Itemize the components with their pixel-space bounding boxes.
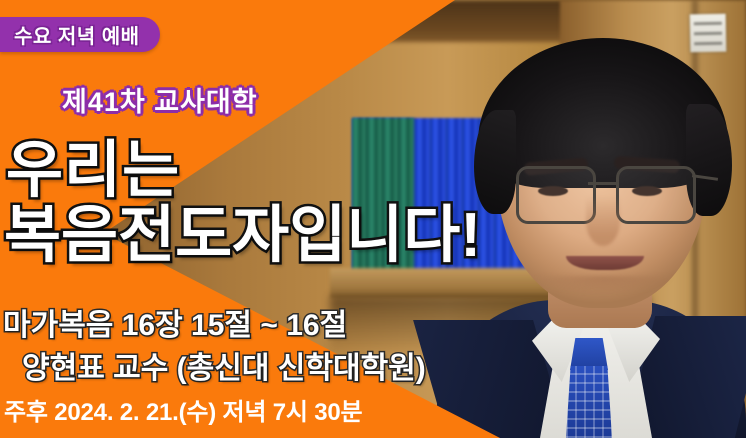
eyeglasses-lens-right	[616, 166, 696, 224]
sermon-title-card: 수요 저녁 예배 제41차 교사대학 우리는 복음전도자입니다! 마가복음 16…	[0, 0, 746, 438]
chin-shadow	[534, 276, 674, 306]
series-kicker: 제41차 교사대학	[62, 80, 258, 119]
necktie-body	[566, 366, 612, 438]
service-type-badge: 수요 저녁 예배	[0, 17, 160, 52]
headline-line-1: 우리는	[6, 140, 180, 202]
headline-line-2: 복음전도자입니다!	[4, 205, 481, 267]
service-type-label: 수요 저녁 예배	[14, 20, 140, 49]
speaker-name-and-affiliation: 양현표 교수 (총신대 신학대학원)	[22, 343, 426, 387]
scripture-reference: 마가복음 16장 15절 ~ 16절	[3, 300, 347, 344]
necktie-knot	[570, 338, 608, 370]
service-datetime: 주후 2024. 2. 21.(수) 저녁 7시 30분	[4, 392, 362, 427]
eyeglasses-lens-left	[516, 166, 596, 224]
hair-side-left	[474, 110, 516, 214]
nose	[586, 196, 620, 246]
eyeglasses-bridge	[588, 182, 618, 185]
